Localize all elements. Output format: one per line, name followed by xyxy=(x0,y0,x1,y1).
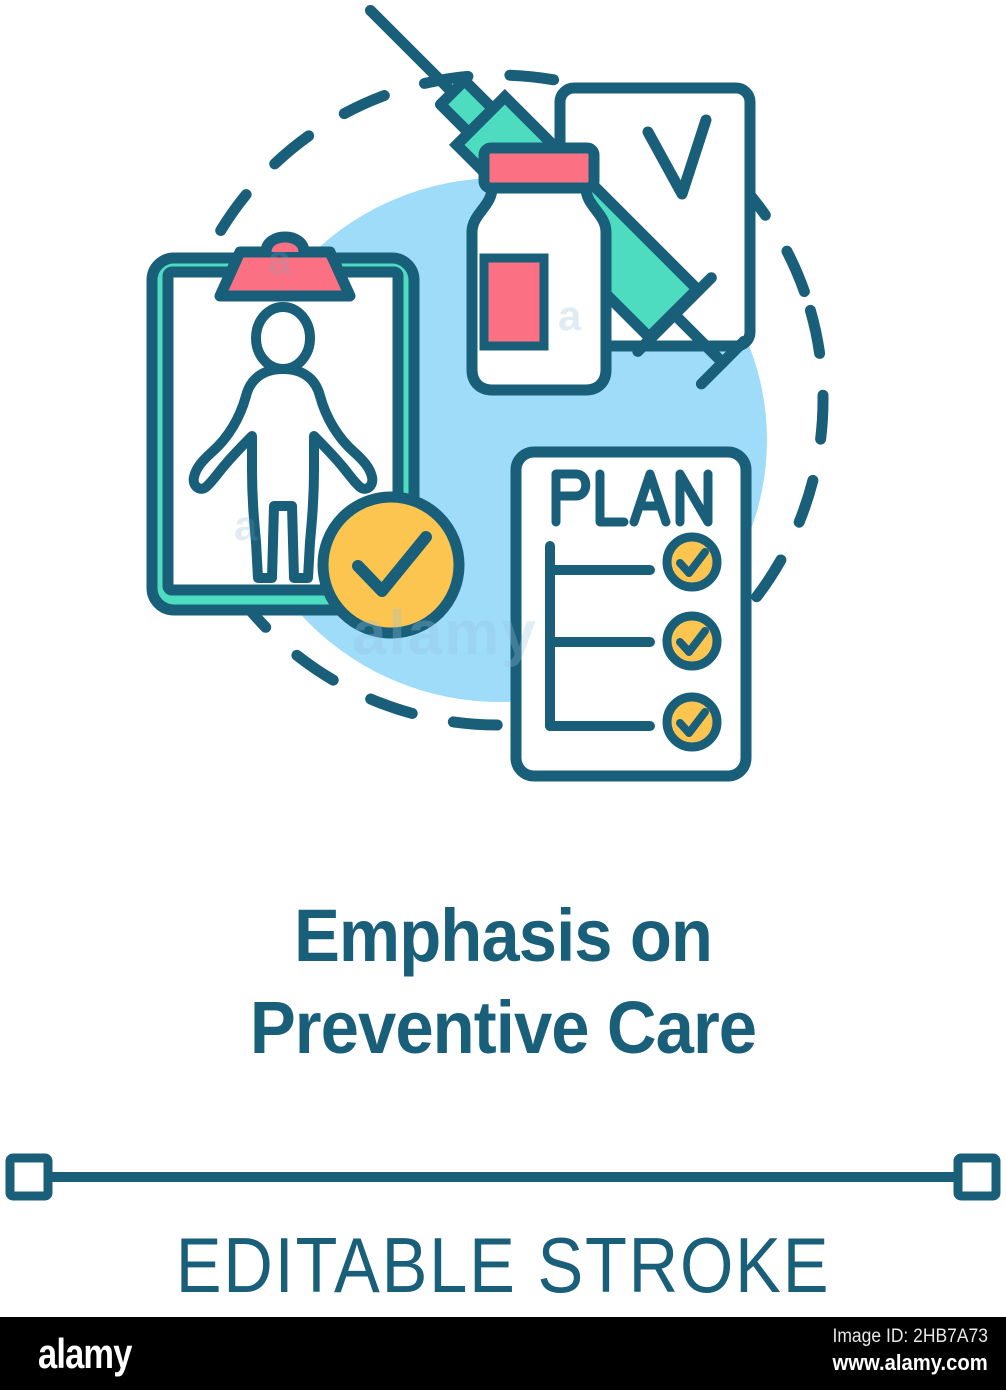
stroke-bar-right-handle xyxy=(958,1158,996,1196)
alamy-url-label: www.alamy.com xyxy=(833,1350,988,1376)
editable-stroke-caption: EDITABLE STROKE xyxy=(60,1222,945,1308)
concept-illustration: a a a alamy xyxy=(0,0,1006,860)
checklist-check-3 xyxy=(667,697,717,747)
stroke-bar-svg xyxy=(0,1146,1006,1208)
stroke-bar-left-handle xyxy=(10,1158,48,1196)
stock-image-canvas: a a a alamy Emphasis on Preventive Care … xyxy=(0,0,1006,1390)
alamy-logo: alamy xyxy=(38,1331,132,1377)
illustration-svg xyxy=(0,0,1006,860)
page-title-line-1: Emphasis on xyxy=(35,890,971,982)
page-title: Emphasis on Preventive Care xyxy=(35,890,971,1074)
check-badge xyxy=(323,497,459,633)
watermark-bar: alamy Image ID: 2HB7A73 www.alamy.com xyxy=(0,1317,1006,1390)
image-id-label: Image ID: 2HB7A73 xyxy=(833,1325,988,1349)
vaccine-vial xyxy=(472,148,606,390)
page-title-line-2: Preventive Care xyxy=(35,982,971,1074)
stroke-width-indicator xyxy=(0,1146,1006,1208)
checklist-check-1 xyxy=(667,537,717,587)
plan-checklist-card xyxy=(516,452,746,776)
checklist-check-2 xyxy=(667,616,717,666)
